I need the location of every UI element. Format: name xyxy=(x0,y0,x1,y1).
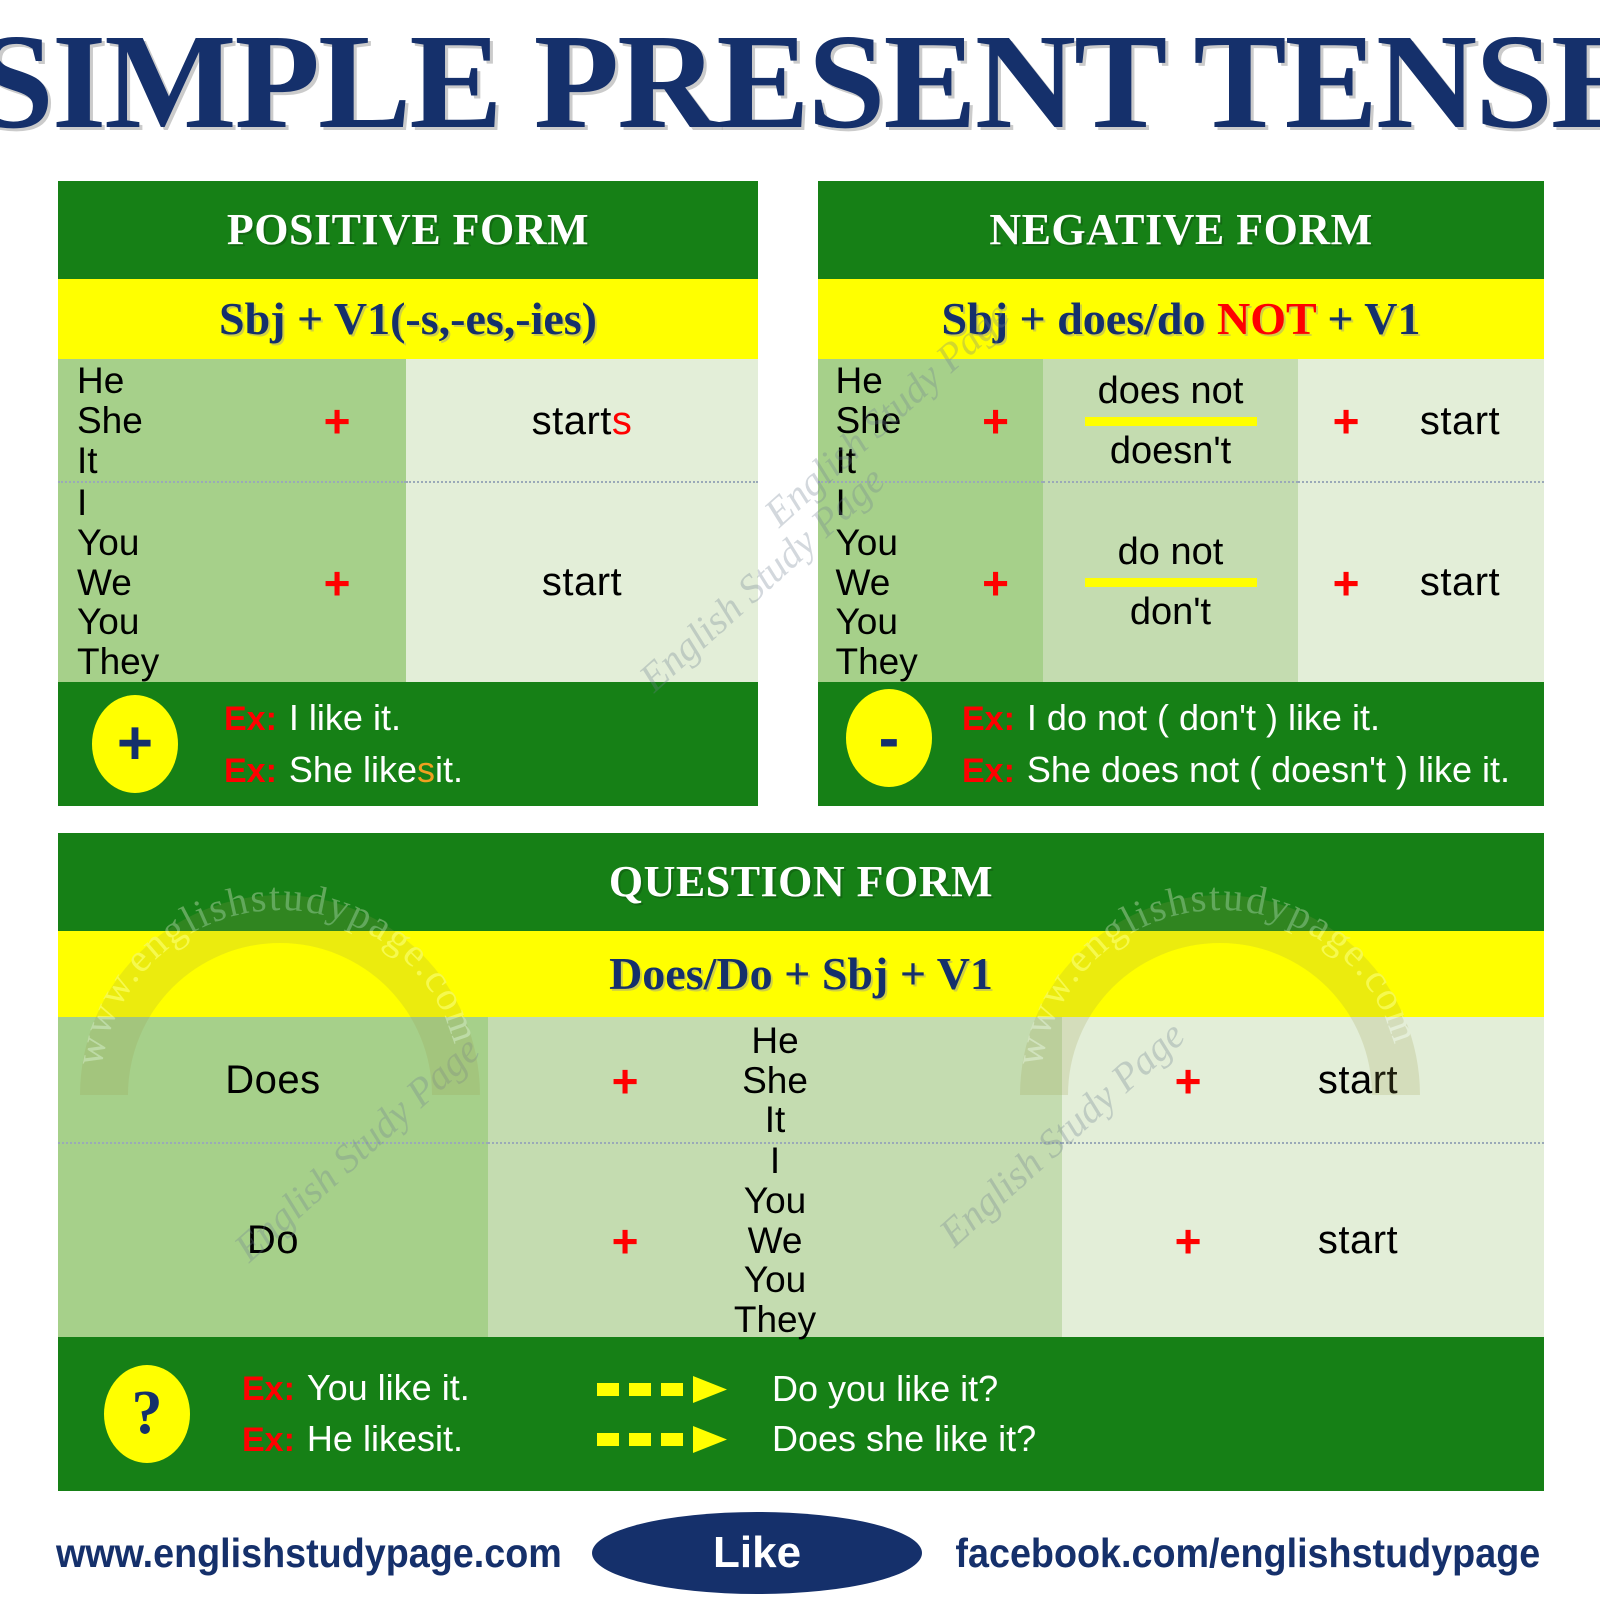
positive-verb-plural: start xyxy=(542,560,622,605)
site-footer: www.englishstudypage.com Like facebook.c… xyxy=(0,1508,1600,1598)
table-row: I You We You They + xyxy=(58,483,406,682)
question-result: Do you like it? xyxy=(772,1364,998,1414)
table-row: start xyxy=(406,483,758,682)
pronoun: She xyxy=(77,401,287,441)
pronoun: He xyxy=(77,361,287,401)
question-verb-column: + start + start xyxy=(1062,1017,1544,1337)
pronoun: You xyxy=(665,1260,885,1300)
question-verb-singular: start xyxy=(1243,1058,1473,1103)
table-row: + start xyxy=(1298,483,1544,682)
question-subjects-singular: He She It xyxy=(665,1021,885,1141)
table-row: He She It + xyxy=(58,359,406,483)
negative-formula: Sbj + does/do NOT + V1 xyxy=(818,279,1544,359)
question-verb-plural: start xyxy=(1243,1218,1473,1263)
facebook-url[interactable]: facebook.com/englishstudypage xyxy=(956,1530,1541,1577)
table-row: + I You We You They xyxy=(488,1144,1062,1337)
plus-sign: + xyxy=(585,1058,665,1104)
pronoun: She xyxy=(665,1061,885,1101)
pronoun: You xyxy=(665,1181,885,1221)
verb-suffix: s xyxy=(612,399,633,443)
pronoun: They xyxy=(836,642,966,682)
table-row: + start xyxy=(1062,1144,1544,1337)
negative-verb-singular: start xyxy=(1385,399,1535,444)
plus-sign: + xyxy=(1133,1058,1243,1104)
question-result: Does she like it? xyxy=(772,1414,1036,1464)
list-item: Ex: I like it. xyxy=(224,692,463,744)
negative-auxiliary-column: does not doesn't do not don't xyxy=(1043,359,1298,682)
table-row: + He She It xyxy=(488,1017,1062,1144)
aux-divider-rule xyxy=(1085,417,1257,426)
pronoun: It xyxy=(77,441,287,481)
negative-aux-plural: do not don't xyxy=(1085,531,1257,634)
negative-form-card: NEGATIVE FORM Sbj + does/do NOT + V1 He … xyxy=(818,181,1544,806)
question-form-card: QUESTION FORM Does/Do + Sbj + V1 Does Do… xyxy=(58,833,1544,1491)
example-text: I like it. xyxy=(289,692,401,744)
pronoun: She xyxy=(836,401,966,441)
positive-subjects-singular: He She It xyxy=(77,361,287,481)
page-title: SIMPLE PRESENT TENSE xyxy=(0,14,1600,150)
example-tag: Ex: xyxy=(242,1417,295,1465)
plus-badge-icon: + xyxy=(92,695,178,793)
pronoun: You xyxy=(836,523,966,563)
list-item: Ex: I do not ( don't ) like it. xyxy=(962,692,1510,744)
table-row: do not don't xyxy=(1043,483,1298,682)
positive-subjects-plural: I You We You They xyxy=(77,483,287,683)
example-tag: Ex: xyxy=(224,695,277,744)
positive-formula: Sbj + V1(-s,-es,-ies) xyxy=(58,279,758,359)
example-text: I do not ( don't ) like it. xyxy=(1027,692,1380,744)
question-subjects-plural: I You We You They xyxy=(665,1141,885,1341)
example-text: She does not ( doesn't ) like it. xyxy=(1027,744,1510,796)
positive-form-card: POSITIVE FORM Sbj + V1(-s,-es,-ies) He S… xyxy=(58,181,758,806)
table-row: + start xyxy=(1298,359,1544,483)
example-highlight: s xyxy=(417,1414,435,1464)
table-row: Do xyxy=(58,1144,488,1337)
example-text-tail: it. xyxy=(435,1414,463,1464)
question-formula: Does/Do + Sbj + V1 xyxy=(58,931,1544,1017)
question-statement: Ex: He likes it. xyxy=(242,1414,572,1465)
list-item: Ex: He likes it. Does she like it? xyxy=(242,1414,1036,1465)
website-url[interactable]: www.englishstudypage.com xyxy=(56,1530,562,1577)
aux-long-form: do not xyxy=(1118,531,1224,574)
negative-aux-singular: does not doesn't xyxy=(1085,370,1257,473)
table-row: He She It + xyxy=(818,359,1043,483)
aux-contraction: doesn't xyxy=(1110,430,1231,473)
pronoun: You xyxy=(77,602,287,642)
aux-contraction: don't xyxy=(1130,591,1211,634)
plus-sign: + xyxy=(1307,560,1385,606)
example-tag: Ex: xyxy=(224,747,277,796)
pronoun: I xyxy=(836,483,966,523)
formula-not-keyword: NOT xyxy=(1217,293,1316,344)
question-table: Does Do + He She It + I You xyxy=(58,1017,1544,1337)
plus-sign: + xyxy=(585,1218,665,1264)
verb-stem: start xyxy=(532,399,612,443)
negative-verb-plural: start xyxy=(1385,560,1535,605)
pronoun: We xyxy=(836,563,966,603)
example-tag: Ex: xyxy=(962,747,1015,796)
pronoun: I xyxy=(77,483,287,523)
question-aux-plural: Do xyxy=(58,1218,488,1263)
positive-example-list: Ex: I like it. Ex: She likes it. xyxy=(224,692,463,797)
question-subject-column: + He She It + I You We You They xyxy=(488,1017,1062,1337)
example-text: You like it. xyxy=(307,1363,470,1413)
question-example-list: Ex: You like it. Do you like it? Ex: xyxy=(242,1363,1036,1464)
question-auxiliary-column: Does Do xyxy=(58,1017,488,1337)
example-text-tail: it. xyxy=(435,744,463,796)
formula-prefix: Sbj + does/do xyxy=(942,293,1217,344)
positive-form-heading: POSITIVE FORM xyxy=(58,181,758,279)
plus-sign: + xyxy=(287,398,387,444)
plus-sign: + xyxy=(1133,1218,1243,1264)
example-tag: Ex: xyxy=(962,695,1015,744)
pronoun: They xyxy=(77,642,287,682)
pronoun: It xyxy=(665,1100,885,1140)
pronoun: He xyxy=(836,361,966,401)
pronoun: It xyxy=(836,441,966,481)
plus-sign: + xyxy=(1307,398,1385,444)
positive-subject-column: He She It + I You We You They + xyxy=(58,359,406,682)
example-text: He like xyxy=(307,1414,417,1464)
positive-verb-singular: starts xyxy=(532,399,633,444)
negative-examples: - Ex: I do not ( don't ) like it. Ex: Sh… xyxy=(818,682,1544,806)
pronoun: You xyxy=(836,602,966,642)
plus-sign: + xyxy=(966,398,1026,444)
positive-verb-column: starts start xyxy=(406,359,758,682)
example-highlight: s xyxy=(417,744,435,796)
table-row: I You We You They + xyxy=(818,483,1043,682)
pronoun: They xyxy=(665,1300,885,1340)
list-item: Ex: She does not ( doesn't ) like it. xyxy=(962,744,1510,796)
list-item: Ex: You like it. Do you like it? xyxy=(242,1363,1036,1414)
formula-suffix: + V1 xyxy=(1316,293,1421,344)
question-form-heading: QUESTION FORM xyxy=(58,833,1544,931)
pronoun: We xyxy=(77,563,287,603)
table-row: + start xyxy=(1062,1017,1544,1144)
dashed-arrow-icon xyxy=(572,1372,772,1406)
negative-table: He She It + I You We You They + xyxy=(818,359,1544,682)
negative-example-list: Ex: I do not ( don't ) like it. Ex: She … xyxy=(962,692,1510,797)
minus-badge-icon: - xyxy=(846,689,932,787)
list-item: Ex: She likes it. xyxy=(224,744,463,796)
like-button[interactable]: Like xyxy=(592,1512,922,1594)
aux-divider-rule xyxy=(1085,578,1257,587)
negative-verb-column: + start + start xyxy=(1298,359,1544,682)
question-aux-singular: Does xyxy=(58,1058,488,1103)
question-statement: Ex: You like it. xyxy=(242,1363,572,1414)
positive-examples: + Ex: I like it. Ex: She likes it. xyxy=(58,682,758,806)
pronoun: I xyxy=(665,1141,885,1181)
negative-form-heading: NEGATIVE FORM xyxy=(818,181,1544,279)
table-row: does not doesn't xyxy=(1043,359,1298,483)
plus-sign: + xyxy=(966,560,1026,606)
aux-long-form: does not xyxy=(1098,370,1244,413)
pronoun: You xyxy=(77,523,287,563)
table-row: starts xyxy=(406,359,758,483)
question-mark-badge-icon: ? xyxy=(104,1365,190,1463)
positive-table: He She It + I You We You They + xyxy=(58,359,758,682)
pronoun: We xyxy=(665,1221,885,1261)
dashed-arrow-icon xyxy=(572,1422,772,1456)
example-text: She like xyxy=(289,744,417,796)
table-row: Does xyxy=(58,1017,488,1144)
question-examples: ? Ex: You like it. Do you like it? xyxy=(58,1337,1544,1491)
plus-sign: + xyxy=(287,560,387,606)
negative-subjects-singular: He She It xyxy=(836,361,966,481)
negative-subject-column: He She It + I You We You They + xyxy=(818,359,1043,682)
negative-subjects-plural: I You We You They xyxy=(836,483,966,683)
example-tag: Ex: xyxy=(242,1366,295,1414)
pronoun: He xyxy=(665,1021,885,1061)
